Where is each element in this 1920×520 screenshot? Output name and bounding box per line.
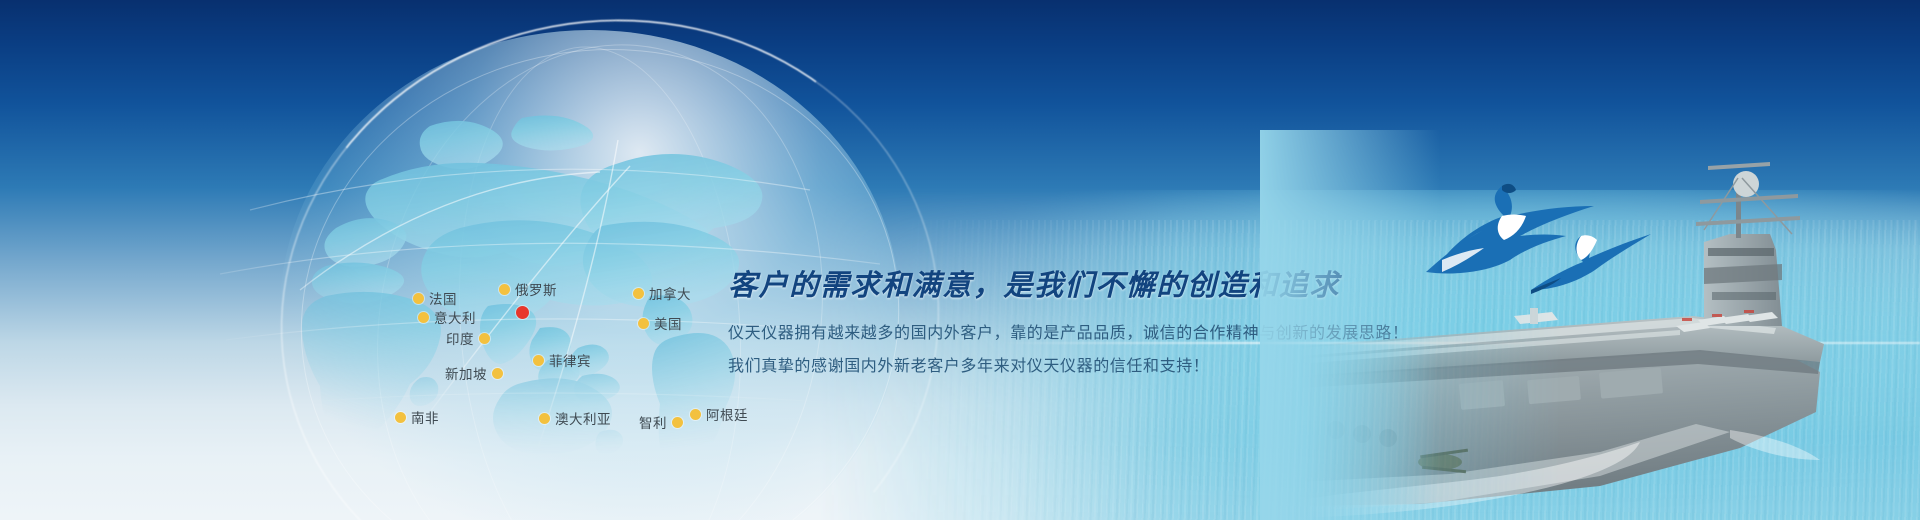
map-pin-5[interactable]: 美国 <box>638 313 682 333</box>
map-pin-10[interactable]: 澳大利亚 <box>539 408 611 428</box>
map-pin-8[interactable]: 新加坡 <box>445 363 503 383</box>
map-pin-7[interactable]: 菲律宾 <box>533 350 591 370</box>
pin-marker-gold-icon <box>479 333 490 344</box>
map-pin-label: 意大利 <box>434 307 476 327</box>
pin-marker-gold-icon <box>672 417 683 428</box>
map-pin-label: 加拿大 <box>649 283 691 303</box>
pin-marker-gold-icon <box>492 368 503 379</box>
pin-marker-gold-icon <box>418 312 429 323</box>
map-pin-1[interactable]: 意大利 <box>418 307 476 327</box>
map-pin-label: 印度 <box>446 328 474 348</box>
map-pin-label: 阿根廷 <box>706 404 748 424</box>
map-pin-label: 智利 <box>639 412 667 432</box>
hero-banner: 法国意大利俄罗斯加拿大美国印度菲律宾新加坡南非澳大利亚智利阿根廷 客户的需求和满… <box>0 0 1920 520</box>
map-pin-label: 菲律宾 <box>549 350 591 370</box>
map-pin-9[interactable]: 南非 <box>395 407 439 427</box>
pin-marker-gold-icon <box>638 318 649 329</box>
map-pin-4[interactable]: 加拿大 <box>633 283 691 303</box>
map-pin-label: 俄罗斯 <box>515 279 557 299</box>
aircraft-carrier <box>1300 130 1920 520</box>
map-pin-12[interactable]: 阿根廷 <box>690 404 748 424</box>
pin-marker-gold-icon <box>499 284 510 295</box>
map-pin-11[interactable]: 智利 <box>639 412 683 432</box>
map-pin-label: 澳大利亚 <box>555 408 611 428</box>
map-pin-2[interactable]: 俄罗斯 <box>499 279 557 299</box>
pin-marker-gold-icon <box>690 409 701 420</box>
pin-marker-gold-icon <box>395 412 406 423</box>
map-pin-0[interactable]: 法国 <box>413 288 457 308</box>
map-pin-label: 新加坡 <box>445 363 487 383</box>
pin-marker-gold-icon <box>533 355 544 366</box>
pin-marker-gold-icon <box>539 413 550 424</box>
pin-marker-gold-icon <box>633 288 644 299</box>
pin-marker-red-icon <box>516 306 529 319</box>
map-pin-label: 法国 <box>429 288 457 308</box>
map-pin-label: 南非 <box>411 407 439 427</box>
pin-marker-gold-icon <box>413 293 424 304</box>
map-pin-6[interactable]: 印度 <box>446 328 490 348</box>
map-pin-label: 美国 <box>654 313 682 333</box>
map-pin-3[interactable] <box>516 306 529 319</box>
